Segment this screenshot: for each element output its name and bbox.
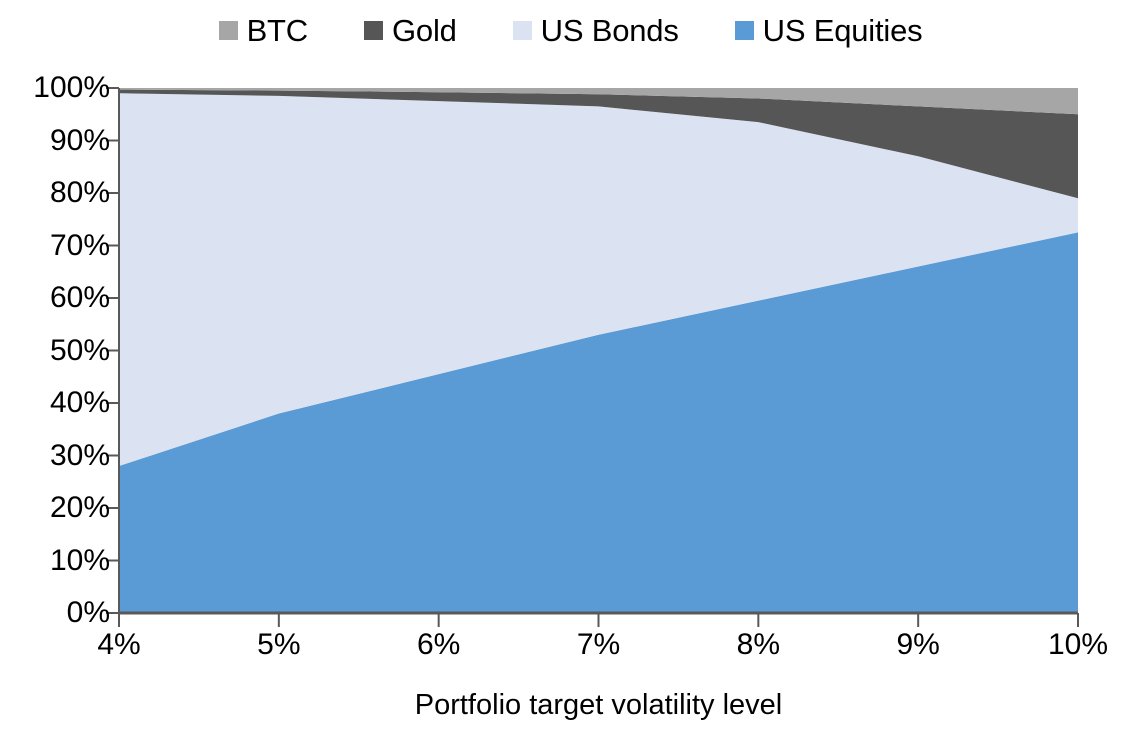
- x-axis-tick-label: 4%: [59, 630, 179, 660]
- y-axis-tick-label: 20%: [2, 493, 110, 523]
- stacked-area-chart: BTCGoldUS BondsUS Equities 0%10%20%30%40…: [0, 0, 1141, 742]
- y-axis-tick-label: 80%: [2, 178, 110, 208]
- y-axis-tick-label: 60%: [2, 283, 110, 313]
- x-axis-tick-label: 6%: [379, 630, 499, 660]
- x-axis-tick-label: 8%: [698, 630, 818, 660]
- y-axis-tick-label: 10%: [2, 546, 110, 576]
- x-axis-tick-label: 5%: [219, 630, 339, 660]
- x-axis-title: Portfolio target volatility level: [119, 688, 1078, 722]
- y-axis-tick-label: 50%: [2, 336, 110, 366]
- x-axis-tick-label: 9%: [858, 630, 978, 660]
- y-axis-tick-label: 70%: [2, 231, 110, 261]
- y-axis-tick-label: 30%: [2, 441, 110, 471]
- x-axis-tick-label: 7%: [539, 630, 659, 660]
- y-axis-tick-label: 100%: [2, 73, 110, 103]
- y-axis-tick-label: 0%: [2, 598, 110, 628]
- y-axis-tick-label: 90%: [2, 126, 110, 156]
- x-axis-tick-label: 10%: [1018, 630, 1138, 660]
- y-axis-tick-label: 40%: [2, 388, 110, 418]
